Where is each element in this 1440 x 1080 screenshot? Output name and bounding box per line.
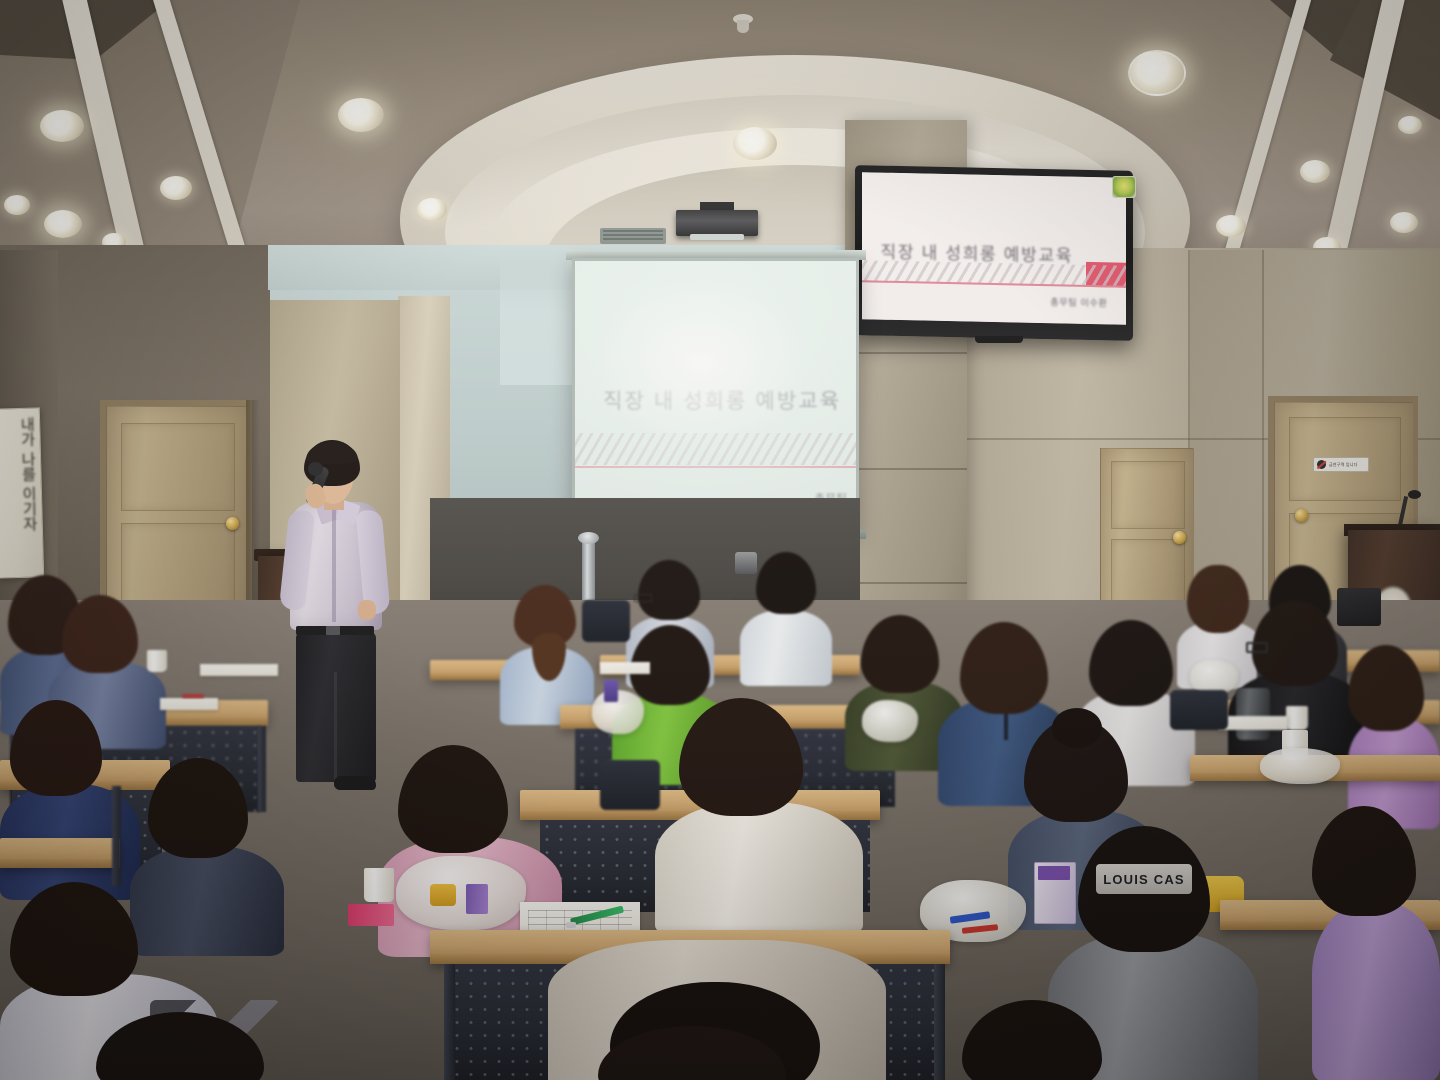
chair-back (582, 600, 630, 642)
projected-slide: 직장 내 성희롱 예방교육 총무팀 (575, 261, 856, 530)
presenter-trouser-seam (334, 672, 337, 780)
eyeglasses-icon (634, 594, 652, 602)
slide-hatch-pattern (575, 433, 856, 465)
thermos (1236, 688, 1270, 740)
ceiling-downlight (40, 110, 84, 142)
wall-mounted-tv: 직장 내 성희롱 예방교육 총무팀 이수환 (855, 165, 1133, 341)
pen-tip (566, 922, 576, 928)
paper-sheet (200, 664, 278, 676)
door-knob-icon (1295, 509, 1308, 522)
ceiling-downlight (417, 198, 447, 221)
presenter-shirt-placket (332, 510, 336, 622)
door-knob-icon (226, 517, 239, 530)
presenter-belt-buckle (326, 626, 340, 635)
plastic-bag (862, 700, 918, 742)
attendee-row3 (655, 698, 865, 920)
projection-surface: 직장 내 성희롱 예방교육 총무팀 (575, 261, 856, 530)
ceiling-downlight (1390, 212, 1418, 233)
ceiling-downlight (1300, 160, 1330, 183)
no-smoking-label: 금연구역 입니다 (1329, 463, 1357, 467)
desk-leg (112, 786, 121, 886)
desk-row4-left (0, 838, 120, 868)
ceiling-downlight (1128, 50, 1186, 96)
presenter-shoe (334, 776, 376, 790)
lecture-room-photo: 직장 내 성희롱 예방교육 총무팀 이수환 직장 내 성희롱 예방교육 총무팀 (0, 0, 1440, 1080)
plastic-bag (1190, 660, 1238, 694)
hoodie-print-text: LOUIS CAS (1096, 866, 1192, 892)
ceiling-downlight (4, 195, 30, 215)
projector-lens (690, 234, 744, 240)
ceiling-downlight (733, 127, 777, 160)
chair-back (600, 760, 660, 810)
presenter-hand-right (358, 600, 376, 620)
pen-cup (604, 680, 618, 702)
tv-slide-title: 직장 내 성희롱 예방교육 (880, 237, 1073, 266)
air-vent-icon (600, 228, 666, 244)
paper-sheet (1218, 716, 1288, 730)
eyeglasses-icon (1246, 642, 1268, 653)
presenter (276, 440, 396, 800)
paper-sheet (600, 662, 650, 674)
desk-leg (444, 964, 455, 1080)
plastic-bag (396, 856, 526, 930)
podium-mic-head-icon (1408, 490, 1421, 499)
ceiling-downlight (338, 98, 384, 132)
tv-screen: 직장 내 성희롱 예방교육 총무팀 이수환 (862, 172, 1126, 325)
projector-icon (676, 210, 758, 236)
calligraphy-text: 내가 나를 이기자 (0, 417, 38, 532)
paper-cup (1286, 706, 1308, 730)
projected-slide-title: 직장 내 성희롱 예방교육 (603, 385, 841, 415)
projection-screen: 직장 내 성희롱 예방교육 총무팀 (572, 258, 859, 533)
snack-item (430, 884, 456, 906)
chair-back (1170, 690, 1228, 730)
pink-notebook (348, 904, 394, 926)
attendee-row5 (96, 1012, 266, 1080)
attendee-row4 (1312, 806, 1440, 1080)
attendee-row1 (738, 552, 834, 682)
no-smoking-sign: 금연구역 입니다 (1313, 457, 1369, 472)
smoke-detector-body (737, 20, 749, 33)
plastic-bag (592, 690, 644, 734)
ceiling-downlight (44, 210, 82, 238)
paper-cup (147, 650, 167, 672)
desk-leg (258, 726, 266, 812)
attendee-row2 (1348, 645, 1440, 825)
desk-leg (934, 964, 945, 1080)
slide-rule (575, 466, 856, 468)
door-knob-icon (1173, 531, 1186, 544)
notebook (160, 698, 218, 710)
hair-bun (1052, 708, 1102, 748)
attendee-row5 (962, 1000, 1102, 1080)
microphone-head-icon (308, 462, 323, 476)
ceiling-downlight (1216, 215, 1246, 237)
paper-cup (364, 868, 394, 902)
energy-label-sticker-icon (1112, 176, 1136, 198)
no-smoking-icon (1317, 460, 1326, 469)
tv-slide: 직장 내 성희롱 예방교육 총무팀 이수환 (862, 172, 1126, 325)
tv-stand-foot (975, 336, 1023, 343)
calligraphy-scroll: 내가 나를 이기자 (0, 407, 44, 578)
candlestick-top (578, 532, 599, 544)
pen (182, 694, 204, 698)
tv-slide-subtitle: 총무팀 이수환 (1050, 295, 1107, 309)
ceiling-downlight (160, 176, 192, 200)
attendee-row5 (598, 1026, 788, 1080)
snack-box (466, 884, 488, 914)
ceiling-downlight (1398, 116, 1422, 134)
plastic-bag (1260, 748, 1340, 784)
